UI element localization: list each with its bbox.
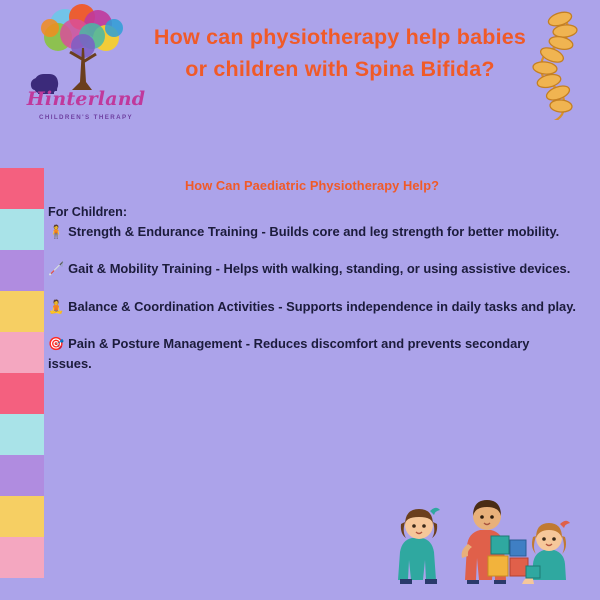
bullet-text: Gait & Mobility Training - Helps with wa… xyxy=(68,261,570,276)
logo-tagline: CHILDREN'S THERAPY xyxy=(20,114,152,121)
bullet-text: Pain & Posture Management - Reduces disc… xyxy=(48,336,529,371)
target-icon: 🎯 xyxy=(48,337,68,352)
brand-logo: Hinterland CHILDREN'S THERAPY xyxy=(20,4,152,136)
lead-label: For Children: xyxy=(48,205,576,219)
content-body: How Can Paediatric Physiotherapy Help? F… xyxy=(48,178,576,391)
decorative-color-strip xyxy=(0,168,44,578)
color-chip xyxy=(0,250,44,291)
bullet-text: Balance & Coordination Activities - Supp… xyxy=(68,299,576,314)
bullet-list: 🧍 Strength & Endurance Training - Builds… xyxy=(48,222,576,374)
children-playing-blocks-illustration xyxy=(384,478,594,598)
bullet-item: 🧘 Balance & Coordination Activities - Su… xyxy=(48,297,576,317)
color-chip xyxy=(0,291,44,332)
page-title: How can physiotherapy help babies or chi… xyxy=(150,22,530,86)
color-chip xyxy=(0,168,44,209)
bullet-item: 🧍 Strength & Endurance Training - Builds… xyxy=(48,222,576,242)
walking-aid-icon: 🦯 xyxy=(48,262,68,277)
color-chip xyxy=(0,209,44,250)
balance-person-icon: 🧘 xyxy=(48,300,68,315)
bullet-item: 🎯 Pain & Posture Management - Reduces di… xyxy=(48,334,576,374)
logo-brand-name: Hinterland xyxy=(20,88,152,110)
section-heading: How Can Paediatric Physiotherapy Help? xyxy=(48,178,576,193)
color-chip xyxy=(0,537,44,578)
tree-icon xyxy=(20,4,152,94)
color-chip xyxy=(0,455,44,496)
person-standing-icon: 🧍 xyxy=(48,225,68,240)
bullet-text: Strength & Endurance Training - Builds c… xyxy=(68,224,559,239)
bullet-item: 🦯 Gait & Mobility Training - Helps with … xyxy=(48,259,576,279)
color-chip xyxy=(0,332,44,373)
color-chip xyxy=(0,496,44,537)
color-chip xyxy=(0,373,44,414)
color-chip xyxy=(0,414,44,455)
spine-icon xyxy=(516,10,586,120)
poster-canvas: Hinterland CHILDREN'S THERAPY How can ph… xyxy=(0,0,600,600)
poster-header: Hinterland CHILDREN'S THERAPY How can ph… xyxy=(0,0,600,150)
